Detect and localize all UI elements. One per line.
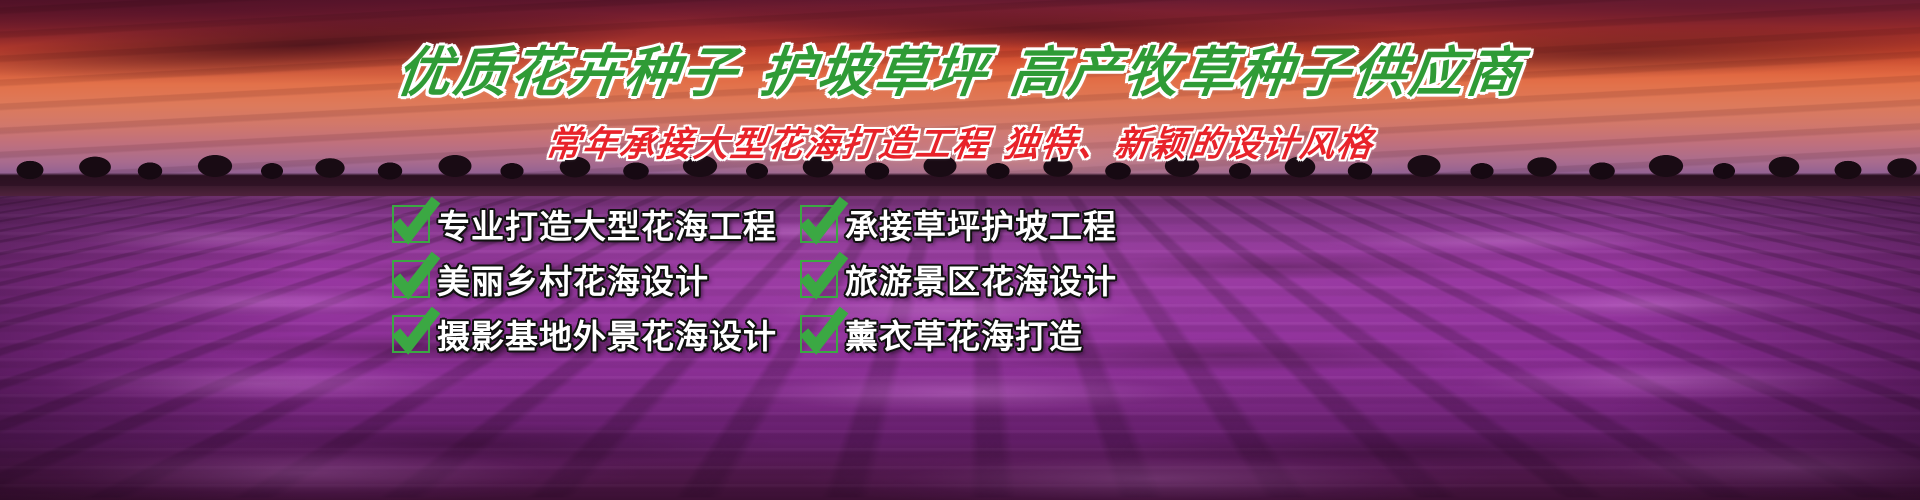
banner-subheadline: 常年承接大型花海打造工程 独特、新颖的设计风格 [543,116,1377,167]
check-mark-icon [800,205,838,243]
check-mark-icon [392,260,430,298]
hero-banner: 优质花卉种子 护坡草坪 高产牧草种子供应商 常年承接大型花海打造工程 独特、新颖… [0,0,1920,500]
feature-checklist: 专业打造大型花海工程 承接草坪护坡工程 [392,198,1152,363]
checklist-item-label: 摄影基地外景花海设计 [437,310,777,358]
check-mark-icon [392,205,430,243]
checklist-row: 摄影基地外景花海设计 薰衣草花海打造 [392,308,1152,359]
banner-content: 优质花卉种子 护坡草坪 高产牧草种子供应商 常年承接大型花海打造工程 独特、新颖… [0,0,1920,500]
checklist-item: 承接草坪护坡工程 [800,200,1152,248]
checklist-item-label: 专业打造大型花海工程 [437,200,777,248]
headline-row: 优质花卉种子 护坡草坪 高产牧草种子供应商 [0,44,1920,101]
checklist-item-label: 薰衣草花海打造 [845,310,1083,358]
checklist-row: 美丽乡村花海设计 旅游景区花海设计 [392,253,1152,304]
checklist-item-label: 旅游景区花海设计 [845,255,1117,303]
checklist-item: 专业打造大型花海工程 [392,200,800,248]
check-mark-icon [800,315,838,353]
checklist-row: 专业打造大型花海工程 承接草坪护坡工程 [392,198,1152,249]
check-mark-icon [392,315,430,353]
subheadline-row: 常年承接大型花海打造工程 独特、新颖的设计风格 [0,116,1920,167]
banner-headline: 优质花卉种子 护坡草坪 高产牧草种子供应商 [393,44,1527,101]
check-mark-icon [800,260,838,298]
checklist-item: 薰衣草花海打造 [800,310,1152,358]
checklist-item: 美丽乡村花海设计 [392,255,800,303]
checklist-item-label: 承接草坪护坡工程 [845,200,1117,248]
checklist-item: 旅游景区花海设计 [800,255,1152,303]
checklist-item: 摄影基地外景花海设计 [392,310,800,358]
checklist-item-label: 美丽乡村花海设计 [437,255,709,303]
